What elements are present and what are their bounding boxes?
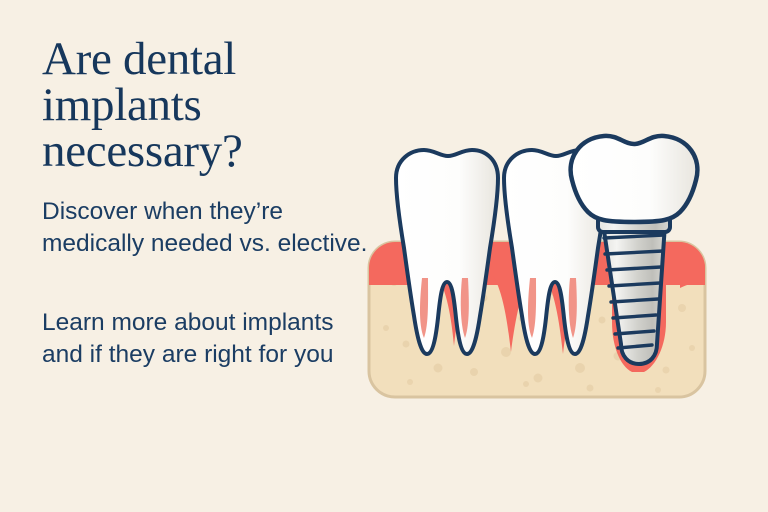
call-to-action-text: Learn more about implants and if they ar… (42, 307, 372, 372)
text-column: Are dental implants necessary? Discover … (42, 36, 372, 372)
subtitle-text: Discover when they’re medically needed v… (42, 196, 372, 259)
implant-crown (571, 136, 698, 222)
infographic-card: Are dental implants necessary? Discover … (0, 0, 768, 512)
dental-implant-illustration (366, 132, 708, 400)
page-title: Are dental implants necessary? (42, 36, 372, 174)
